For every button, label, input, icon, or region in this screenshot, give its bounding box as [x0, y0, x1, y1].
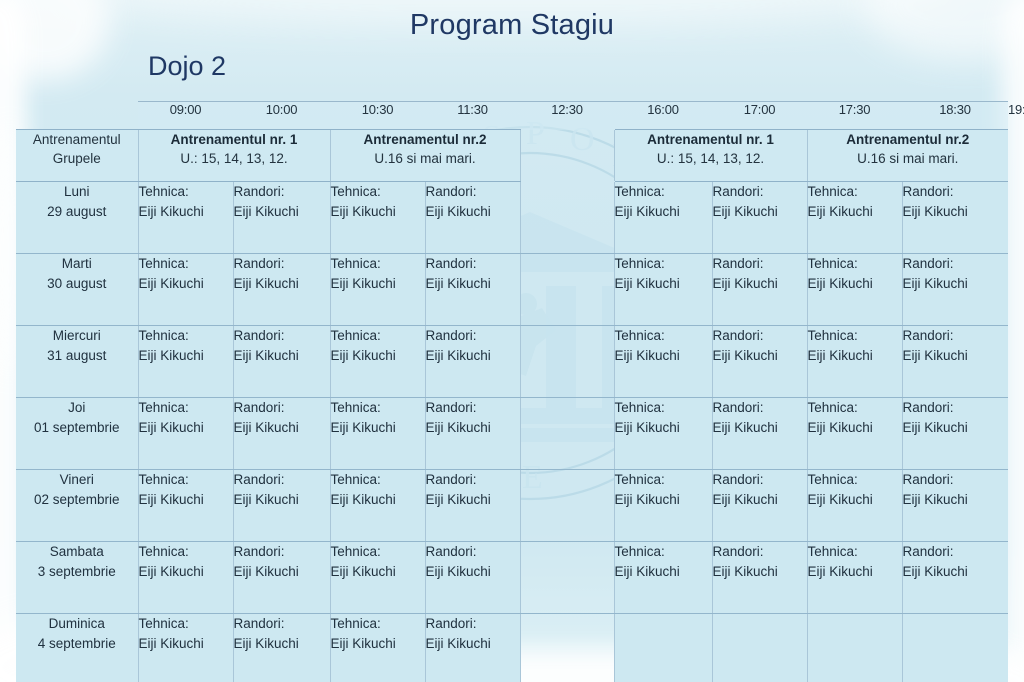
session-slot-cell[interactable]: Randori:Eiji Kikuchi [712, 542, 807, 614]
schedule-day-row: Marti30 augustTehnica:Eiji KikuchiRandor… [16, 254, 1008, 326]
activity-instructor: Eiji Kikuchi [615, 418, 712, 438]
activity-label: Tehnica: [331, 614, 425, 634]
session-slot-cell[interactable]: Randori:Eiji Kikuchi [233, 614, 330, 682]
activity-label: Randori: [903, 398, 1009, 418]
session-slot-cell[interactable]: Randori:Eiji Kikuchi [902, 182, 1008, 254]
session-slot-cell[interactable]: Randori:Eiji Kikuchi [233, 254, 330, 326]
session-slot-cell[interactable]: Randori:Eiji Kikuchi [712, 182, 807, 254]
activity-label: Randori: [426, 254, 520, 274]
activity-instructor: Eiji Kikuchi [234, 418, 330, 438]
activity-label: Tehnica: [615, 542, 712, 562]
activity-label: Tehnica: [808, 182, 902, 202]
activity-label: Tehnica: [139, 398, 233, 418]
session-slot-cell[interactable]: Tehnica:Eiji Kikuchi [330, 542, 425, 614]
session-slot-cell[interactable]: Randori:Eiji Kikuchi [233, 326, 330, 398]
session-slot-cell[interactable]: Randori:Eiji Kikuchi [425, 326, 520, 398]
activity-label: Randori: [426, 182, 520, 202]
dojo-subtitle: Dojo 2 [148, 51, 226, 82]
activity-label: Randori: [903, 542, 1009, 562]
session-title-2: Antrenamentul nr. 1 [647, 132, 774, 147]
day-date: 01 septembrie [16, 418, 138, 438]
activity-label: Tehnica: [615, 326, 712, 346]
day-name: Sambata [16, 542, 138, 562]
session-slot-cell[interactable]: Randori:Eiji Kikuchi [425, 254, 520, 326]
activity-label: Tehnica: [331, 182, 425, 202]
activity-label: Tehnica: [139, 470, 233, 490]
session-title-3: Antrenamentul nr.2 [846, 132, 969, 147]
day-name: Miercuri [16, 326, 138, 346]
group-column-header: Antrenamentul Grupele [16, 130, 138, 182]
day-date: 4 septembrie [16, 634, 138, 654]
empty-slot-cell [712, 614, 807, 682]
activity-label: Randori: [903, 254, 1009, 274]
activity-instructor: Eiji Kikuchi [139, 202, 233, 222]
session-slot-cell[interactable]: Randori:Eiji Kikuchi [712, 254, 807, 326]
schedule-day-row: Vineri02 septembrieTehnica:Eiji KikuchiR… [16, 470, 1008, 542]
empty-slot-cell [614, 614, 712, 682]
session-slot-cell[interactable]: Randori:Eiji Kikuchi [902, 542, 1008, 614]
session-slot-cell[interactable]: Tehnica:Eiji Kikuchi [807, 326, 902, 398]
session-subtitle-3: U.16 si mai mari. [857, 151, 958, 166]
time-label-3: 11:30 [425, 102, 520, 130]
activity-instructor: Eiji Kikuchi [903, 418, 1009, 438]
session-slot-cell[interactable]: Tehnica:Eiji Kikuchi [807, 254, 902, 326]
activity-label: Tehnica: [615, 182, 712, 202]
activity-label: Randori: [234, 326, 330, 346]
break-cell [520, 398, 614, 470]
activity-instructor: Eiji Kikuchi [615, 562, 712, 582]
activity-instructor: Eiji Kikuchi [808, 346, 902, 366]
break-cell [520, 542, 614, 614]
session-subtitle-1: U.16 si mai mari. [374, 151, 475, 166]
session-header-1: Antrenamentul nr.2 U.16 si mai mari. [330, 130, 520, 182]
break-cell [520, 470, 614, 542]
activity-instructor: Eiji Kikuchi [331, 346, 425, 366]
activity-instructor: Eiji Kikuchi [331, 634, 425, 654]
time-label-7: 17:30 [807, 102, 902, 130]
activity-label: Tehnica: [615, 398, 712, 418]
activity-label: Randori: [234, 182, 330, 202]
activity-instructor: Eiji Kikuchi [139, 634, 233, 654]
session-slot-cell[interactable]: Randori:Eiji Kikuchi [233, 470, 330, 542]
activity-instructor: Eiji Kikuchi [615, 274, 712, 294]
activity-label: Randori: [426, 398, 520, 418]
session-slot-cell[interactable]: Tehnica:Eiji Kikuchi [330, 326, 425, 398]
day-label-cell: Duminica4 septembrie [16, 614, 138, 682]
session-slot-cell[interactable]: Tehnica:Eiji Kikuchi [807, 542, 902, 614]
break-cell [520, 254, 614, 326]
session-slot-cell[interactable]: Tehnica:Eiji Kikuchi [138, 614, 233, 682]
activity-label: Randori: [234, 614, 330, 634]
activity-label: Tehnica: [615, 254, 712, 274]
time-label-1: 10:00 [233, 102, 330, 130]
time-label-4: 12:30 [520, 102, 614, 130]
session-slot-cell[interactable]: Tehnica:Eiji Kikuchi [807, 182, 902, 254]
day-name: Marti [16, 254, 138, 274]
day-name: Vineri [16, 470, 138, 490]
activity-label: Randori: [426, 542, 520, 562]
session-slot-cell[interactable]: Tehnica:Eiji Kikuchi [138, 254, 233, 326]
activity-instructor: Eiji Kikuchi [808, 274, 902, 294]
session-slot-cell[interactable]: Tehnica:Eiji Kikuchi [614, 470, 712, 542]
activity-instructor: Eiji Kikuchi [426, 634, 520, 654]
day-label-cell: Miercuri31 august [16, 326, 138, 398]
activity-label: Tehnica: [808, 326, 902, 346]
activity-label: Tehnica: [615, 470, 712, 490]
session-slot-cell[interactable]: Tehnica:Eiji Kikuchi [138, 470, 233, 542]
activity-label: Randori: [713, 182, 807, 202]
time-header-corner [16, 102, 138, 130]
activity-instructor: Eiji Kikuchi [331, 202, 425, 222]
activity-instructor: Eiji Kikuchi [808, 202, 902, 222]
time-header-row: 09:00 10:00 10:30 11:30 12:30 16:00 17:0… [16, 102, 1008, 130]
session-slot-cell[interactable]: Randori:Eiji Kikuchi [712, 326, 807, 398]
activity-instructor: Eiji Kikuchi [903, 562, 1009, 582]
activity-label: Randori: [426, 326, 520, 346]
activity-instructor: Eiji Kikuchi [713, 274, 807, 294]
activity-label: Randori: [713, 254, 807, 274]
schedule-day-row: Luni29 augustTehnica:Eiji KikuchiRandori… [16, 182, 1008, 254]
session-slot-cell[interactable]: Randori:Eiji Kikuchi [233, 398, 330, 470]
activity-label: Randori: [234, 398, 330, 418]
session-subtitle-0: U.: 15, 14, 13, 12. [180, 151, 287, 166]
session-slot-cell[interactable]: Randori:Eiji Kikuchi [425, 182, 520, 254]
day-date: 30 august [16, 274, 138, 294]
session-slot-cell[interactable]: Tehnica:Eiji Kikuchi [138, 326, 233, 398]
session-slot-cell[interactable]: Randori:Eiji Kikuchi [233, 542, 330, 614]
session-slot-cell[interactable]: Tehnica:Eiji Kikuchi [614, 542, 712, 614]
activity-label: Tehnica: [331, 326, 425, 346]
day-label-cell: Marti30 august [16, 254, 138, 326]
activity-instructor: Eiji Kikuchi [713, 346, 807, 366]
session-slot-cell[interactable]: Randori:Eiji Kikuchi [902, 398, 1008, 470]
session-slot-cell[interactable]: Randori:Eiji Kikuchi [425, 614, 520, 682]
activity-instructor: Eiji Kikuchi [234, 634, 330, 654]
activity-label: Tehnica: [139, 326, 233, 346]
break-cell [520, 614, 614, 682]
session-slot-cell[interactable]: Tehnica:Eiji Kikuchi [330, 470, 425, 542]
session-slot-cell[interactable]: Tehnica:Eiji Kikuchi [614, 182, 712, 254]
session-header-3: Antrenamentul nr.2 U.16 si mai mari. [807, 130, 1008, 182]
activity-instructor: Eiji Kikuchi [713, 202, 807, 222]
session-header-row: Antrenamentul Grupele Antrenamentul nr. … [16, 130, 1008, 182]
session-slot-cell[interactable]: Tehnica:Eiji Kikuchi [614, 326, 712, 398]
schedule-day-row: Joi01 septembrieTehnica:Eiji KikuchiRand… [16, 398, 1008, 470]
group-header-line2: Grupele [53, 151, 101, 166]
session-slot-cell[interactable]: Tehnica:Eiji Kikuchi [330, 614, 425, 682]
session-slot-cell[interactable]: Tehnica:Eiji Kikuchi [614, 254, 712, 326]
session-title-0: Antrenamentul nr. 1 [171, 132, 298, 147]
schedule-day-row: Sambata3 septembrieTehnica:Eiji KikuchiR… [16, 542, 1008, 614]
session-slot-cell[interactable]: Tehnica:Eiji Kikuchi [807, 470, 902, 542]
activity-label: Randori: [713, 398, 807, 418]
activity-label: Tehnica: [139, 182, 233, 202]
activity-instructor: Eiji Kikuchi [615, 346, 712, 366]
activity-instructor: Eiji Kikuchi [713, 490, 807, 510]
activity-label: Randori: [234, 542, 330, 562]
activity-label: Tehnica: [331, 398, 425, 418]
schedule-day-row: Miercuri31 augustTehnica:Eiji KikuchiRan… [16, 326, 1008, 398]
activity-label: Randori: [234, 470, 330, 490]
activity-instructor: Eiji Kikuchi [426, 346, 520, 366]
break-cell [520, 326, 614, 398]
activity-instructor: Eiji Kikuchi [903, 490, 1009, 510]
activity-instructor: Eiji Kikuchi [139, 274, 233, 294]
activity-label: Randori: [426, 470, 520, 490]
day-date: 29 august [16, 202, 138, 222]
activity-label: Randori: [234, 254, 330, 274]
activity-label: Randori: [713, 542, 807, 562]
break-column-header [520, 130, 614, 182]
time-label-0: 09:00 [138, 102, 233, 130]
session-slot-cell[interactable]: Randori:Eiji Kikuchi [902, 326, 1008, 398]
time-label-6: 17:00 [712, 102, 807, 130]
day-date: 31 august [16, 346, 138, 366]
activity-instructor: Eiji Kikuchi [426, 202, 520, 222]
activity-instructor: Eiji Kikuchi [615, 202, 712, 222]
activity-instructor: Eiji Kikuchi [331, 274, 425, 294]
activity-instructor: Eiji Kikuchi [331, 562, 425, 582]
session-slot-cell[interactable]: Randori:Eiji Kikuchi [425, 470, 520, 542]
session-slot-cell[interactable]: Randori:Eiji Kikuchi [425, 542, 520, 614]
activity-instructor: Eiji Kikuchi [903, 202, 1009, 222]
activity-instructor: Eiji Kikuchi [808, 490, 902, 510]
activity-label: Randori: [903, 470, 1009, 490]
day-label-cell: Luni29 august [16, 182, 138, 254]
slide-canvas: S P O R T I N C L U B T H E Program Stag… [0, 0, 1024, 682]
session-title-1: Antrenamentul nr.2 [363, 132, 486, 147]
activity-instructor: Eiji Kikuchi [903, 274, 1009, 294]
session-header-2: Antrenamentul nr. 1 U.: 15, 14, 13, 12. [614, 130, 807, 182]
activity-instructor: Eiji Kikuchi [234, 274, 330, 294]
session-slot-cell[interactable]: Tehnica:Eiji Kikuchi [330, 254, 425, 326]
activity-instructor: Eiji Kikuchi [713, 418, 807, 438]
activity-instructor: Eiji Kikuchi [713, 562, 807, 582]
activity-label: Tehnica: [331, 542, 425, 562]
time-label-2: 10:30 [330, 102, 425, 130]
session-slot-cell[interactable]: Tehnica:Eiji Kikuchi [807, 398, 902, 470]
day-name: Joi [16, 398, 138, 418]
activity-instructor: Eiji Kikuchi [426, 562, 520, 582]
schedule-table: 09:00 10:00 10:30 11:30 12:30 16:00 17:0… [16, 101, 1008, 682]
session-slot-cell[interactable]: Tehnica:Eiji Kikuchi [330, 398, 425, 470]
activity-instructor: Eiji Kikuchi [903, 346, 1009, 366]
activity-instructor: Eiji Kikuchi [426, 274, 520, 294]
session-slot-cell[interactable]: Tehnica:Eiji Kikuchi [614, 398, 712, 470]
activity-instructor: Eiji Kikuchi [331, 490, 425, 510]
activity-instructor: Eiji Kikuchi [139, 346, 233, 366]
session-slot-cell[interactable]: Randori:Eiji Kikuchi [902, 470, 1008, 542]
activity-instructor: Eiji Kikuchi [331, 418, 425, 438]
activity-instructor: Eiji Kikuchi [808, 562, 902, 582]
session-slot-cell[interactable]: Randori:Eiji Kikuchi [425, 398, 520, 470]
day-label-cell: Vineri02 septembrie [16, 470, 138, 542]
activity-label: Tehnica: [808, 398, 902, 418]
session-slot-cell[interactable]: Randori:Eiji Kikuchi [902, 254, 1008, 326]
day-date: 3 septembrie [16, 562, 138, 582]
activity-instructor: Eiji Kikuchi [808, 418, 902, 438]
activity-instructor: Eiji Kikuchi [139, 562, 233, 582]
day-date: 02 septembrie [16, 490, 138, 510]
activity-label: Randori: [903, 182, 1009, 202]
activity-instructor: Eiji Kikuchi [139, 418, 233, 438]
activity-label: Randori: [713, 326, 807, 346]
schedule-day-row: Duminica4 septembrieTehnica:Eiji Kikuchi… [16, 614, 1008, 682]
empty-slot-cell [807, 614, 902, 682]
session-slot-cell[interactable]: Randori:Eiji Kikuchi [712, 398, 807, 470]
break-cell [520, 182, 614, 254]
activity-instructor: Eiji Kikuchi [139, 490, 233, 510]
page-title: Program Stagiu [0, 9, 1024, 42]
activity-instructor: Eiji Kikuchi [615, 490, 712, 510]
time-label-5: 16:00 [614, 102, 712, 130]
session-slot-cell[interactable]: Tehnica:Eiji Kikuchi [138, 542, 233, 614]
session-slot-cell[interactable]: Randori:Eiji Kikuchi [233, 182, 330, 254]
group-header-line1: Antrenamentul [33, 132, 121, 147]
activity-label: Tehnica: [331, 254, 425, 274]
session-slot-cell[interactable]: Tehnica:Eiji Kikuchi [138, 398, 233, 470]
activity-label: Tehnica: [139, 254, 233, 274]
day-name: Luni [16, 182, 138, 202]
activity-label: Tehnica: [331, 470, 425, 490]
activity-label: Tehnica: [139, 614, 233, 634]
activity-label: Tehnica: [139, 542, 233, 562]
session-slot-cell[interactable]: Tehnica:Eiji Kikuchi [138, 182, 233, 254]
day-label-cell: Sambata3 septembrie [16, 542, 138, 614]
session-slot-cell[interactable]: Tehnica:Eiji Kikuchi [330, 182, 425, 254]
activity-label: Randori: [903, 326, 1009, 346]
empty-slot-cell [902, 614, 1008, 682]
session-subtitle-2: U.: 15, 14, 13, 12. [657, 151, 764, 166]
activity-label: Randori: [713, 470, 807, 490]
day-name: Duminica [16, 614, 138, 634]
session-slot-cell[interactable]: Randori:Eiji Kikuchi [712, 470, 807, 542]
activity-instructor: Eiji Kikuchi [234, 202, 330, 222]
activity-instructor: Eiji Kikuchi [426, 418, 520, 438]
activity-instructor: Eiji Kikuchi [234, 490, 330, 510]
activity-label: Randori: [426, 614, 520, 634]
session-header-0: Antrenamentul nr. 1 U.: 15, 14, 13, 12. [138, 130, 330, 182]
activity-label: Tehnica: [808, 542, 902, 562]
activity-instructor: Eiji Kikuchi [234, 346, 330, 366]
time-label-8: 18:30 [902, 102, 1008, 130]
activity-instructor: Eiji Kikuchi [426, 490, 520, 510]
activity-label: Tehnica: [808, 470, 902, 490]
activity-instructor: Eiji Kikuchi [234, 562, 330, 582]
activity-label: Tehnica: [808, 254, 902, 274]
day-label-cell: Joi01 septembrie [16, 398, 138, 470]
